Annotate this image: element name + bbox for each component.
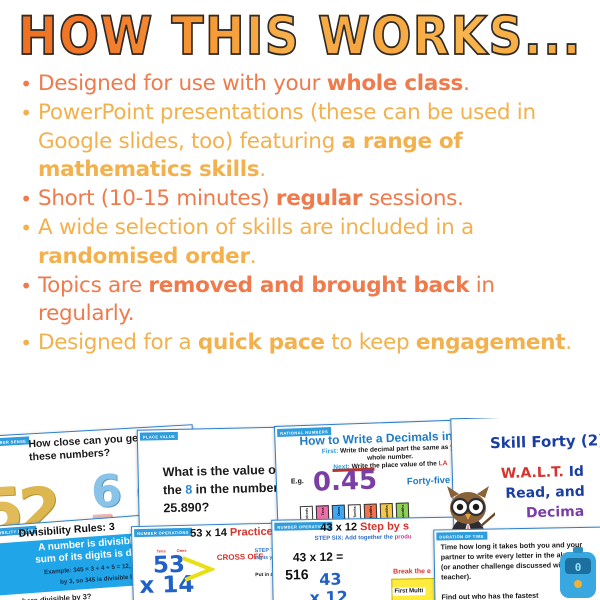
slide-thumbnail-collage: NUMBER SENSE How close can you get using… <box>0 418 600 600</box>
steps-43x12-top-number: 43 <box>319 570 342 589</box>
bullet-5-segment-1: quick pace <box>198 330 325 355</box>
steps-43x12-break-text: Break the e <box>393 568 431 576</box>
page-title-container: HOW THIS WORKS... <box>0 6 600 64</box>
bullet-marker-icon: • <box>14 329 38 358</box>
bullet-text-3: A wide selection of skills are included … <box>38 214 586 271</box>
bullet-text-4: Topics are removed and brought back in r… <box>38 272 586 329</box>
bullet-5-segment-3: engagement <box>416 330 565 355</box>
bullet-item-2: •Short (10-15 minutes) regular sessions. <box>14 185 586 214</box>
steps-43x12-equation: 43 x 12 = <box>293 550 344 565</box>
steps-43x12-step-label: STEP SIX: <box>315 536 344 543</box>
walt-line-2: Read, and <box>505 484 585 502</box>
skill-forty-title: Skill Forty (2) <box>490 431 600 452</box>
bullet-5-segment-2: to keep <box>325 330 416 355</box>
bullet-5-segment-0: Designed for a <box>38 330 198 355</box>
slide-tab-duration-of-time: DURATION OF TIME <box>436 532 487 541</box>
steps-43x12-step-pink: produ <box>395 534 412 540</box>
bullet-0-segment-2: . <box>463 71 470 96</box>
page-title: HOW THIS WORKS... <box>18 6 582 69</box>
bullet-5-segment-4: . <box>565 330 572 355</box>
stopwatch-icon: 0 <box>556 546 600 600</box>
bullet-1-segment-2: . <box>259 157 266 182</box>
steps-43x12-first-multiple-label: First Multi <box>392 587 425 596</box>
walt-line1-suffix: Id <box>564 464 585 481</box>
bullet-item-5: •Designed for a quick pace to keep engag… <box>14 329 586 358</box>
bullet-marker-icon: • <box>14 99 38 128</box>
slide-tab-place-value: PLACE VALUE <box>140 432 178 441</box>
decimals-eg-label: E.g. <box>291 478 304 485</box>
bullet-4-segment-0: Topics are <box>38 273 148 298</box>
steps-43x12-expression: 43 x 12 <box>320 521 357 534</box>
slide-tab-number-sense: NUMBER SENSE <box>0 436 29 446</box>
bullet-marker-icon: • <box>14 214 38 243</box>
practice-53x14-heading: 53 x 14 Practice – <box>190 526 282 540</box>
bullet-0-segment-0: Designed for use with your <box>38 71 327 96</box>
bullet-text-2: Short (10-15 minutes) regular sessions. <box>38 185 586 214</box>
bullet-2-segment-0: Short (10-15 minutes) <box>38 186 276 211</box>
decimals-value: 0.45 <box>312 467 377 495</box>
bullet-0-segment-1: whole class <box>327 71 463 96</box>
pv-col-label-1: Tens <box>320 507 324 515</box>
bullet-marker-icon: • <box>14 272 38 301</box>
bullet-text-1: PowerPoint presentations (these can be u… <box>38 99 586 185</box>
practice-53x14-expression: 53 x 14 <box>190 527 227 540</box>
feature-bullet-list: •Designed for use with your whole class.… <box>14 70 586 358</box>
bullet-3-segment-0: A wide selection of skills are included … <box>38 215 474 240</box>
steps-43x12-subheading: Step by s <box>360 520 409 533</box>
bullet-item-3: •A wide selection of skills are included… <box>14 214 586 271</box>
slide-tab-number-operations-a: NUMBER OPERATIONS <box>134 528 192 537</box>
walt-line-1: W.A.L.T. Id <box>501 464 585 482</box>
bullet-marker-icon: • <box>14 70 38 99</box>
slide-canvas: HOW THIS WORKS... •Designed for use with… <box>0 0 600 600</box>
bullet-item-4: •Topics are removed and brought back in … <box>14 272 586 329</box>
pv-col-label-2: Ones <box>336 507 340 516</box>
bullet-item-0: •Designed for use with your whole class. <box>14 70 586 99</box>
steps-43x12-step-text: Add together the <box>343 535 394 542</box>
bullet-3-segment-2: . <box>250 244 257 269</box>
bullet-marker-icon: • <box>14 185 38 214</box>
bullet-text-0: Designed for use with your whole class. <box>38 70 586 99</box>
bullet-4-segment-1: removed and brought back <box>148 273 469 298</box>
steps-43x12-heading: 43 x 12 Step by s <box>320 520 409 534</box>
bullet-text-5: Designed for a quick pace to keep engage… <box>38 329 586 358</box>
walt-line-3: Decima <box>526 504 585 522</box>
steps-43x12-partial: 516 <box>285 566 309 582</box>
steps-43x12-step: STEP SIX: Add together the produ <box>315 534 412 542</box>
walt-acronym: W.A.L.T. <box>501 464 564 482</box>
decimals-next-highlight: LA <box>439 460 448 467</box>
bullet-item-1: •PowerPoint presentations (these can be … <box>14 99 586 185</box>
bullet-3-segment-1: randomised order <box>38 244 250 269</box>
bullet-2-segment-2: sessions. <box>362 186 463 211</box>
cross-off-arrow-icon <box>181 555 216 582</box>
svg-text:0: 0 <box>575 561 582 574</box>
pv-col-label-3: Tenths <box>352 506 356 518</box>
steps-43x12-bottom-number: x 12 <box>309 587 347 600</box>
bullet-2-segment-1: regular <box>276 186 362 211</box>
decimals-first-label: First: <box>322 448 339 456</box>
